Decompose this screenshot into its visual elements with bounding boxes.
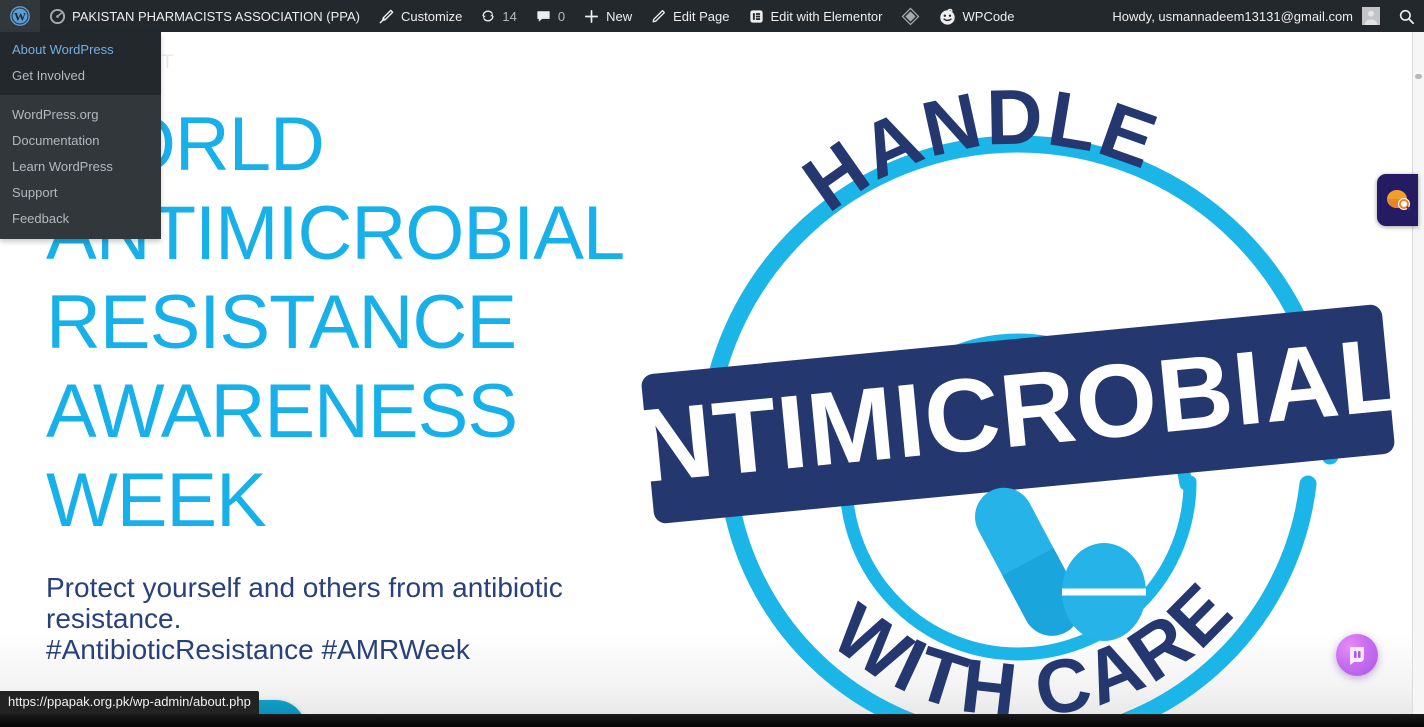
adminbar-new-label: New [606,9,632,24]
adminbar-customize[interactable]: Customize [369,0,471,32]
adminbar-elementor[interactable] [892,0,929,32]
svg-text:HANDLE: HANDLE [780,84,1180,234]
page-scrollbar-track[interactable] [1412,32,1424,714]
adminbar-edit-page-label: Edit Page [673,9,729,24]
adminbar-updates[interactable]: 14 [471,0,525,32]
comment-bubble-icon [535,8,552,25]
dropdown-item-documentation[interactable]: Documentation [0,128,161,154]
paintbrush-icon [378,8,395,25]
dropdown-item-wordpress-org[interactable]: WordPress.org [0,102,161,128]
orange-search-bubble-icon [1385,187,1411,213]
adminbar-edit-with-elementor[interactable]: Edit with Elementor [739,0,892,32]
hero-section: SPOTLIGHT WORLD ANTIMICROBIAL RESISTANCE… [0,32,1412,714]
svg-text:W: W [14,10,26,24]
dropdown-item-feedback[interactable]: Feedback [0,206,161,232]
adminbar-spacer [1024,0,1104,32]
dropdown-item-get-involved[interactable]: Get Involved [0,63,161,89]
user-avatar-icon [1362,7,1380,25]
pause-chat-bubble-icon [1346,644,1368,666]
adminbar-my-account[interactable]: Howdy, usmannadeem13131@gmail.com [1103,0,1389,32]
adminbar-comments-count: 0 [558,9,565,24]
adminbar-edit-page[interactable]: Edit Page [641,0,738,32]
dropdown-item-about-wordpress[interactable]: About WordPress [0,37,161,63]
wordpress-logo-icon: W [10,6,30,26]
adminbar-site-name-label: PAKISTAN PHARMACISTS ASSOCIATION (PPA) [72,9,360,24]
browser-status-bar-url: https://ppapak.org.pk/wp-admin/about.php [0,691,259,714]
adminbar-site-name[interactable]: PAKISTAN PHARMACISTS ASSOCIATION (PPA) [40,0,369,32]
floating-chat-widget[interactable] [1336,634,1378,676]
plus-icon [583,8,600,25]
hero-subheadline: Protect yourself and others from antibio… [46,572,646,665]
adminbar-howdy-label: Howdy, usmannadeem13131@gmail.com [1112,9,1353,24]
dashboard-speedometer-icon [49,8,66,25]
stamp-handle-text-group: HANDLE [780,84,1180,234]
adminbar-wordpress-logo[interactable]: W [0,0,40,32]
adminbar-search[interactable] [1389,0,1424,32]
wpcode-smiley-icon [938,7,957,26]
adminbar-customize-label: Customize [401,9,462,24]
amr-stamp-graphic: HANDLE ANTIMICROBIALS [628,84,1408,714]
elementor-diamond-icon [901,7,920,26]
adminbar-new-content[interactable]: New [574,0,641,32]
page-content: SPOTLIGHT WORLD ANTIMICROBIAL RESISTANCE… [0,32,1412,714]
adminbar-comments[interactable]: 0 [526,0,574,32]
browser-viewport: SPOTLIGHT WORLD ANTIMICROBIAL RESISTANCE… [0,0,1424,727]
page-scrollbar-thumb[interactable] [1415,74,1422,79]
adminbar-updates-count: 14 [502,9,516,24]
elementor-doc-icon [748,8,765,25]
dropdown-group-resources: WordPress.org Documentation Learn WordPr… [0,95,161,234]
dropdown-item-learn-wordpress[interactable]: Learn WordPress [0,154,161,180]
wp-admin-bar: W PAKISTAN PHARMACISTS ASSOCIATION (PPA) [0,0,1424,32]
search-icon [1398,8,1415,25]
dropdown-item-support[interactable]: Support [0,180,161,206]
dropdown-group-about: About WordPress Get Involved [0,32,161,95]
floating-orange-widget[interactable] [1377,174,1418,226]
stamp-top-arc-text: HANDLE [780,84,1180,234]
adminbar-wpcode[interactable]: WPCode [929,0,1024,32]
update-arrows-icon [480,8,496,24]
adminbar-wpcode-label: WPCode [963,9,1015,24]
wordpress-logo-dropdown-menu: About WordPress Get Involved WordPress.o… [0,32,161,239]
pencil-icon [650,8,667,25]
capsule-and-tablet-icon [965,478,1146,647]
browser-bottom-chrome [0,714,1424,727]
adminbar-edit-with-elementor-label: Edit with Elementor [771,9,883,24]
